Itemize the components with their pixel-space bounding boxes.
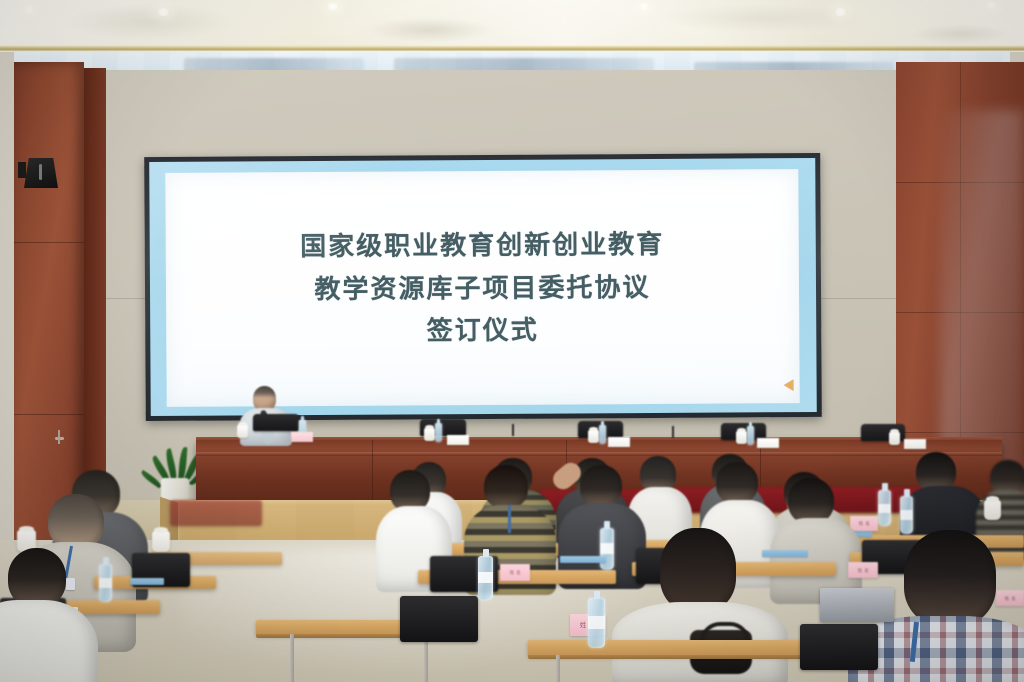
desk-teacup	[984, 500, 1001, 520]
bottle-label	[478, 572, 493, 583]
badge	[66, 578, 75, 590]
stage-name-plate	[447, 435, 469, 445]
ceiling-downlight	[985, 2, 998, 9]
stage-name-plate	[608, 437, 630, 447]
desk-leg	[290, 634, 294, 682]
desk-name-card: 姓 名	[848, 562, 878, 578]
stage-teacup	[424, 428, 435, 441]
stage-water-bottle	[747, 426, 754, 445]
conference-hall-photo: 国家级职业教育创新创业教育 教学资源库子项目委托协议 签订仪式	[0, 0, 1024, 682]
auditorium-seat	[170, 500, 262, 526]
lanyard	[508, 505, 511, 533]
table-microphone	[512, 424, 514, 436]
slide-line-1: 国家级职业教育创新创业教育	[300, 223, 664, 268]
attendee-head	[8, 548, 66, 608]
bottle-label	[588, 616, 605, 629]
desk-name-card: 姓 名	[500, 564, 530, 581]
desk-name-card: 姓 名	[996, 590, 1024, 606]
speaker-slot	[39, 164, 42, 180]
bottle-label	[600, 543, 614, 554]
attendee-head	[716, 462, 758, 504]
name-card-text: 姓 名	[509, 569, 521, 575]
desk-water-bottle	[478, 556, 493, 600]
ceiling-marble-panel	[0, 0, 1024, 52]
desk-water-bottle	[99, 564, 112, 602]
stage-teacup	[889, 432, 900, 445]
marble-veining	[0, 0, 1024, 52]
name-card-text: 姓 名	[1004, 595, 1016, 601]
stage-teacup	[237, 425, 248, 438]
bottle-label	[878, 504, 891, 513]
slide-line-3: 签订仪式	[427, 309, 539, 353]
desk-water-bottle	[588, 598, 605, 648]
stage-name-plate	[757, 438, 779, 448]
projection-screen: 国家级职业教育创新创业教育 教学资源库子项目委托协议 签订仪式	[144, 153, 822, 421]
chair-back	[400, 596, 478, 642]
attendee-head	[904, 530, 996, 626]
stage-teacup	[588, 430, 599, 443]
speaker-bracket	[18, 162, 26, 178]
desk-teacup	[152, 531, 170, 552]
desk-water-bottle	[878, 490, 891, 526]
audience-desk	[528, 640, 828, 656]
ceiling-downlight	[326, 3, 340, 10]
desk-name-card: 姓 名	[850, 516, 878, 531]
bottle-label	[900, 510, 913, 520]
name-card-text: 姓 名	[858, 520, 870, 526]
stage-name-plate	[291, 432, 313, 442]
podium-molding	[196, 452, 1002, 456]
attendee-head	[580, 465, 622, 507]
attendee-head	[660, 528, 736, 612]
wall-speaker	[24, 158, 58, 188]
stage-water-bottle	[435, 423, 442, 442]
slide-canvas: 国家级职业教育创新创业教育 教学资源库子项目委托协议 签订仪式	[165, 169, 799, 407]
bottle-label	[99, 578, 112, 588]
desk-water-bottle	[600, 528, 614, 570]
door-handle-plate[interactable]	[58, 430, 60, 444]
ceiling-downlight	[156, 8, 171, 16]
desk-water-bottle	[900, 496, 913, 534]
name-card-text: 姓 名	[857, 567, 869, 573]
stage-name-plate	[904, 439, 926, 449]
play-triangle-marker-icon	[784, 379, 794, 391]
ceiling-downlight	[833, 8, 848, 16]
blue-folder	[560, 556, 606, 563]
stage-water-bottle	[599, 425, 606, 444]
slide-line-2: 教学资源库子项目委托协议	[314, 266, 650, 311]
table-microphone	[672, 426, 674, 438]
ceiling-downlight	[22, 6, 36, 13]
laptop	[820, 588, 894, 622]
attendee-head	[484, 465, 528, 509]
stage-teacup	[736, 431, 747, 444]
ceiling-downlight	[637, 3, 651, 10]
stage-chair	[253, 414, 299, 431]
desk-edge	[528, 655, 828, 659]
desk-leg	[556, 655, 560, 682]
podium-seam	[372, 440, 373, 502]
blue-folder	[762, 550, 808, 557]
chair-back	[800, 624, 878, 670]
blue-folder	[130, 578, 164, 585]
